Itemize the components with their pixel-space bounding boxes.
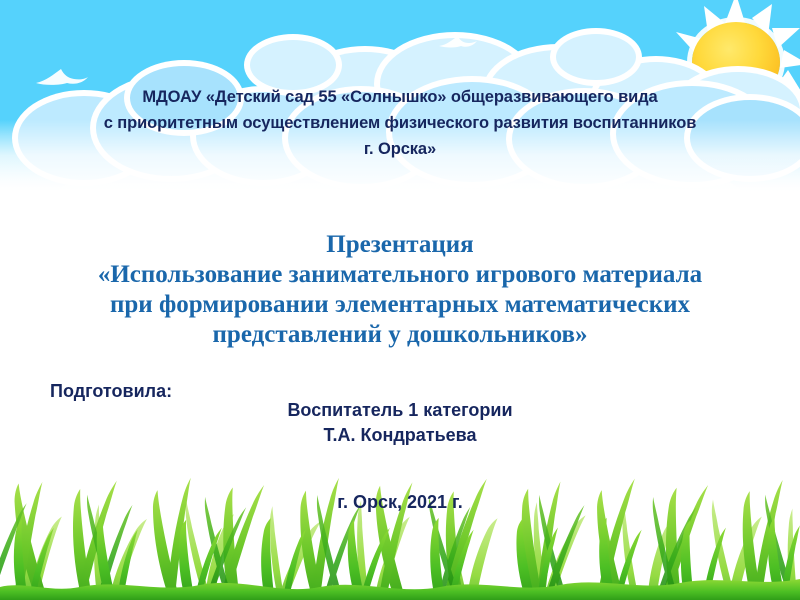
author-role: Воспитатель 1 категории [0, 398, 800, 423]
author-credit: Воспитатель 1 категории Т.А. Кондратьева [0, 398, 800, 448]
cloud-icon [250, 40, 336, 90]
cloud-icon [556, 34, 636, 80]
page-title: Презентация «Использование занимательног… [0, 230, 800, 350]
presentation-title-slide: МДОАУ «Детский сад 55 «Солнышко» общераз… [0, 0, 800, 600]
place-and-year-line: г. Орск, 2021 г. [0, 492, 800, 513]
institution-header-line: г. Орска» [0, 136, 800, 162]
institution-header: МДОАУ «Детский сад 55 «Солнышко» общераз… [0, 84, 800, 162]
institution-header-line: с приоритетным осуществлением физическог… [0, 110, 800, 136]
page-title-line: Презентация [0, 230, 800, 260]
institution-header-line: МДОАУ «Детский сад 55 «Солнышко» общераз… [0, 84, 800, 110]
author-name: Т.А. Кондратьева [0, 423, 800, 448]
place-and-year: г. Орск, 2021 г. [0, 492, 800, 513]
page-title-line: представлений у дошкольников» [0, 320, 800, 350]
page-title-line: при формировании элементарных математиче… [0, 290, 800, 320]
page-title-line: «Использование занимательного игрового м… [0, 260, 800, 290]
bird-icon [438, 34, 478, 52]
